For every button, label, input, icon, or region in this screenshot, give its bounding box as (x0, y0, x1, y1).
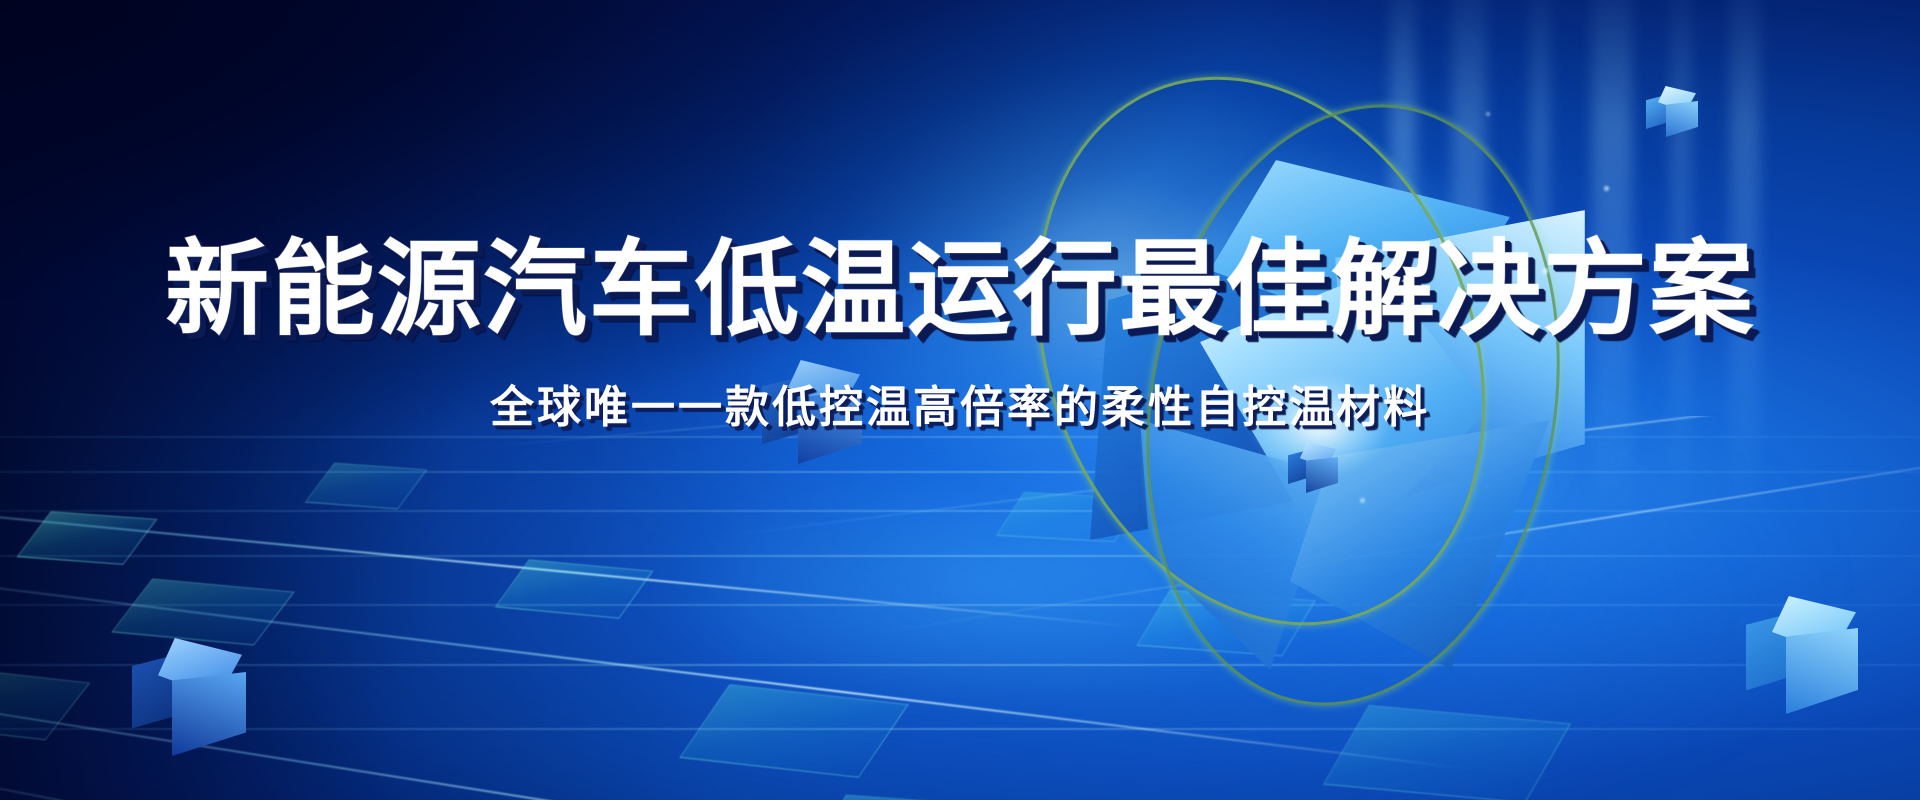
page-subtitle: 全球唯一一款低控温高倍率的柔性自控温材料 (0, 371, 1920, 435)
sparkle (1360, 498, 1365, 503)
banner-stage: 新能源汽车低温运行最佳解决方案 全球唯一一款低控温高倍率的柔性自控温材料 (0, 0, 1920, 800)
banner-text-block: 新能源汽车低温运行最佳解决方案 全球唯一一款低控温高倍率的柔性自控温材料 (0, 236, 1920, 435)
cube-bottom-left (128, 638, 252, 762)
cube-top-right (1646, 86, 1700, 140)
page-title: 新能源汽车低温运行最佳解决方案 (0, 236, 1920, 345)
cube-bottom-right (1744, 596, 1864, 726)
cube-small-center (1288, 442, 1340, 494)
sparkle (1604, 186, 1609, 191)
sparkle (1486, 112, 1490, 116)
